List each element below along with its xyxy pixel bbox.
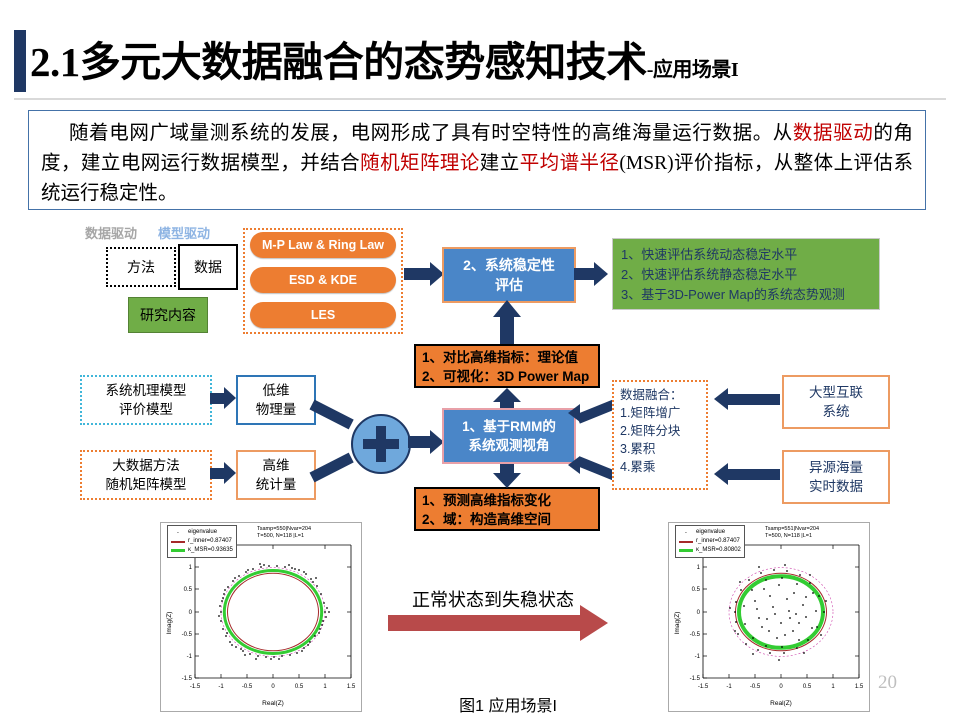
page-title-sub: -应用场景I: [647, 59, 738, 81]
abstract-line2c: (MSR): [619, 153, 673, 174]
legend-label-msr: κ_MSR=0.93635: [188, 546, 233, 555]
svg-text:Imag(Z): Imag(Z): [166, 612, 173, 635]
legend-data-driven-label: 数据驱动: [85, 223, 137, 242]
msr-line-icon: [679, 549, 693, 552]
page-title: 2.1多元大数据融合的态势感知技术-应用场景I: [30, 28, 930, 88]
arrow-lowdim-to-plus: [310, 400, 354, 430]
low-dimension-line1: 低维: [263, 381, 290, 400]
rmm-line1: 1、基于RMM的: [462, 417, 556, 436]
legend-entry-eigenvalue-2: · eigenvalue: [679, 528, 741, 537]
svg-text:-1: -1: [187, 654, 193, 660]
physical-model-line1: 系统机理模型: [106, 381, 187, 400]
legend-label-rinner: r_inner=0.87407: [188, 537, 232, 546]
title-divider: [14, 98, 946, 100]
svg-text:-1.5: -1.5: [182, 676, 193, 682]
page-number: 20: [878, 672, 897, 694]
svg-text:1.5: 1.5: [347, 684, 356, 690]
results-box: 1、快速评估系统动态稳定水平 2、快速评估系统静态稳定水平 3、基于3D-Pow…: [612, 238, 880, 310]
chart-unstable-header-line1: Tsamp=551|Nvar=204: [765, 526, 819, 533]
abstract-highlight-msr: 平均谱半径: [520, 153, 620, 174]
legend-label-msr-2: κ_MSR=0.80802: [696, 546, 741, 555]
svg-text:1: 1: [189, 565, 193, 571]
eigenvalue-marker-icon: ·: [171, 530, 185, 536]
svg-text:-1.5: -1.5: [190, 684, 201, 690]
svg-text:-0.5: -0.5: [690, 632, 701, 638]
rmm-observation-box: 1、基于RMM的 系统观测视角: [442, 408, 576, 464]
arrow-bigdata-to-highdim-head: [224, 462, 236, 484]
transition-arrow-shaft: [388, 615, 584, 631]
arrow-rmm-to-indicator-bottom-head: [493, 473, 521, 488]
arrow-indicator-to-stability-head: [493, 300, 521, 317]
arrow-phys-to-lowdim-shaft: [210, 393, 224, 404]
abstract-line2b: 建立: [480, 153, 520, 174]
indicator-bottom-line1: 1、预测高维指标变化: [422, 491, 592, 510]
source-heterogeneous-data-box: 异源海量 实时数据: [782, 450, 890, 504]
source-2-line1: 异源海量: [809, 458, 863, 477]
r-inner-line-icon: [171, 541, 185, 543]
svg-text:Imag(Z): Imag(Z): [674, 612, 681, 635]
svg-text:-0.5: -0.5: [182, 632, 193, 638]
svg-text:-1: -1: [695, 654, 701, 660]
fusion-plus-icon: [351, 414, 411, 474]
chart-unstable-header: Tsamp=551|Nvar=204 T=500, N=118 |L=1: [765, 526, 819, 540]
fusion-title: 数据融合：: [620, 386, 700, 404]
indicator-bottom-line2: 2、域：构造高维空间: [422, 510, 592, 529]
arrow-src2-to-fusion-head: [714, 463, 728, 485]
abstract-box: 随着电网广域量测系统的发展，电网形成了具有时空特性的高维海量运行数据。从数据驱动…: [28, 110, 926, 210]
legend-entry-eigenvalue: · eigenvalue: [171, 528, 233, 537]
legend-data-box: 数据: [178, 244, 238, 290]
svg-text:0.5: 0.5: [184, 587, 193, 593]
chart-unstable-header-line2: T=500, N=118 |L=1: [765, 533, 819, 540]
title-accent-bar: [14, 30, 26, 92]
legend-entry-rinner: r_inner=0.87407: [171, 537, 233, 546]
pill-esd-kde[interactable]: ESD & KDE: [250, 267, 396, 293]
abstract-line1: 随着电网广域量测系统的发展，电网形成了具有时空特性的高维海量运行数据。从: [41, 123, 793, 144]
indicator-bottom-box: 1、预测高维指标变化 2、域：构造高维空间: [414, 487, 600, 531]
chart-normal-state: Real(Z) Imag(Z) -1.5-1-0.5 00.511.5 -1.5…: [160, 522, 362, 712]
stability-line2: 评估: [495, 275, 523, 295]
svg-text:1: 1: [831, 684, 835, 690]
legend-entry-msr: κ_MSR=0.93635: [171, 546, 233, 555]
arrow-src1-to-fusion-head: [714, 388, 728, 410]
arrow-fusion-to-rmm-lower-head: [568, 456, 580, 474]
arrow-fusion-to-rmm-upper-head: [568, 404, 580, 422]
legend-method-box: 方法: [106, 247, 176, 287]
fusion-item-3: 3.累积: [620, 440, 700, 458]
chart-normal-header: Tsamp=550|Nvar=204 T=500, N=118 |L=1: [257, 526, 311, 540]
stability-assessment-box: 2、系统稳定性 评估: [442, 247, 576, 303]
abstract-highlight-rmt: 随机矩阵理论: [360, 153, 480, 174]
result-item-3: 3、基于3D-Power Map的系统态势观测: [621, 285, 871, 305]
result-item-1: 1、快速评估系统动态稳定水平: [621, 245, 871, 265]
abstract-text: 随着电网广域量测系统的发展，电网形成了具有时空特性的高维海量运行数据。从数据驱动…: [41, 119, 913, 209]
figure-caption: 图1 应用场景I: [388, 692, 628, 716]
arrow-plus-to-rmm-shaft: [408, 436, 430, 448]
arrow-highdim-to-plus: [310, 453, 354, 483]
arrow-pills-to-stability-shaft: [404, 268, 430, 280]
high-dimension-line2: 统计量: [256, 475, 297, 494]
data-fusion-box: 数据融合： 1.矩阵增广 2.矩阵分块 3.累积 4.累乘: [612, 380, 708, 490]
svg-text:0: 0: [779, 684, 783, 690]
svg-text:0: 0: [271, 684, 275, 690]
svg-text:Real(Z): Real(Z): [770, 700, 792, 707]
physical-model-box: 系统机理模型 评价模型: [80, 375, 212, 425]
svg-text:0.5: 0.5: [295, 684, 304, 690]
arrow-stability-to-results-shaft: [574, 268, 594, 280]
arrow-stability-to-results-head: [594, 262, 608, 286]
arrow-phys-to-lowdim-head: [224, 387, 236, 409]
high-dimension-box: 高维 统计量: [236, 450, 316, 500]
fusion-item-2: 2.矩阵分块: [620, 422, 700, 440]
bigdata-model-box: 大数据方法 随机矩阵模型: [80, 450, 212, 500]
legend-entry-msr-2: κ_MSR=0.80802: [679, 546, 741, 555]
arrow-rmm-to-indicator-head: [493, 388, 521, 402]
svg-text:-1.5: -1.5: [698, 684, 709, 690]
legend-label-rinner-2: r_inner=0.87407: [696, 537, 740, 546]
source-large-grid-box: 大型互联 系统: [782, 375, 890, 429]
transition-label: 正常状态到失稳状态: [388, 586, 598, 612]
legend-model-driven-label: 模型驱动: [158, 223, 210, 242]
legend-label-eigenvalue: eigenvalue: [188, 528, 217, 537]
transition-arrow-head: [580, 605, 608, 641]
result-item-2: 2、快速评估系统静态稳定水平: [621, 265, 871, 285]
legend-entry-rinner-2: r_inner=0.87407: [679, 537, 741, 546]
svg-text:-0.5: -0.5: [750, 684, 761, 690]
svg-text:-1.5: -1.5: [690, 676, 701, 682]
arrow-src2-to-fusion-shaft: [728, 469, 780, 480]
svg-text:0: 0: [697, 610, 701, 616]
rmm-line2: 系统观测视角: [469, 436, 550, 455]
physical-model-line2: 评价模型: [119, 400, 173, 419]
legend-research-box: 研究内容: [128, 297, 208, 333]
svg-text:1.5: 1.5: [855, 684, 864, 690]
low-dimension-box: 低维 物理量: [236, 375, 316, 425]
msr-line-icon: [171, 549, 185, 552]
high-dimension-line1: 高维: [263, 456, 290, 475]
chart-unstable-state: Real(Z) Imag(Z) -1.5-1-0.5 00.511.5 -1.5…: [668, 522, 870, 712]
bigdata-model-line1: 大数据方法: [112, 456, 180, 475]
svg-text:0.5: 0.5: [803, 684, 812, 690]
svg-text:0.5: 0.5: [692, 587, 701, 593]
source-1-line2: 系统: [823, 402, 850, 421]
r-inner-line-icon: [679, 541, 693, 543]
svg-text:1: 1: [697, 565, 701, 571]
chart-normal-legend: · eigenvalue r_inner=0.87407 κ_MSR=0.936…: [167, 525, 237, 558]
svg-text:-0.5: -0.5: [242, 684, 253, 690]
fusion-item-1: 1.矩阵增广: [620, 404, 700, 422]
indicator-top-line1: 1、对比高维指标：理论值: [422, 348, 592, 367]
pill-les[interactable]: LES: [250, 302, 396, 328]
svg-text:0: 0: [189, 610, 193, 616]
indicator-top-box: 1、对比高维指标：理论值 2、可视化：3D Power Map: [414, 344, 600, 388]
arrow-bigdata-to-highdim-shaft: [210, 468, 224, 479]
bigdata-model-line2: 随机矩阵模型: [106, 475, 187, 494]
source-1-line1: 大型互联: [809, 383, 863, 402]
arrow-src1-to-fusion-shaft: [728, 394, 780, 405]
chart-normal-header-line1: Tsamp=550|Nvar=204: [257, 526, 311, 533]
fusion-item-4: 4.累乘: [620, 458, 700, 476]
chart-unstable-legend: · eigenvalue r_inner=0.87407 κ_MSR=0.808…: [675, 525, 745, 558]
abstract-highlight-data-driven: 数据驱动: [793, 123, 873, 144]
arrow-indicator-to-stability-shaft: [500, 316, 514, 344]
legend-label-eigenvalue-2: eigenvalue: [696, 528, 725, 537]
eigenvalue-marker-icon: ·: [679, 530, 693, 536]
stability-line1: 2、系统稳定性: [463, 255, 555, 275]
source-2-line2: 实时数据: [809, 477, 863, 496]
svg-text:-1: -1: [726, 684, 732, 690]
svg-text:1: 1: [323, 684, 327, 690]
pill-mp-ring-law[interactable]: M-P Law & Ring Law: [250, 232, 396, 258]
chart-normal-header-line2: T=500, N=118 |L=1: [257, 533, 311, 540]
page-title-main: 2.1多元大数据融合的态势感知技术: [30, 39, 647, 85]
indicator-top-line2: 2、可视化：3D Power Map: [422, 367, 592, 386]
svg-text:Real(Z): Real(Z): [262, 700, 284, 707]
svg-text:-1: -1: [218, 684, 224, 690]
low-dimension-line2: 物理量: [256, 400, 297, 419]
